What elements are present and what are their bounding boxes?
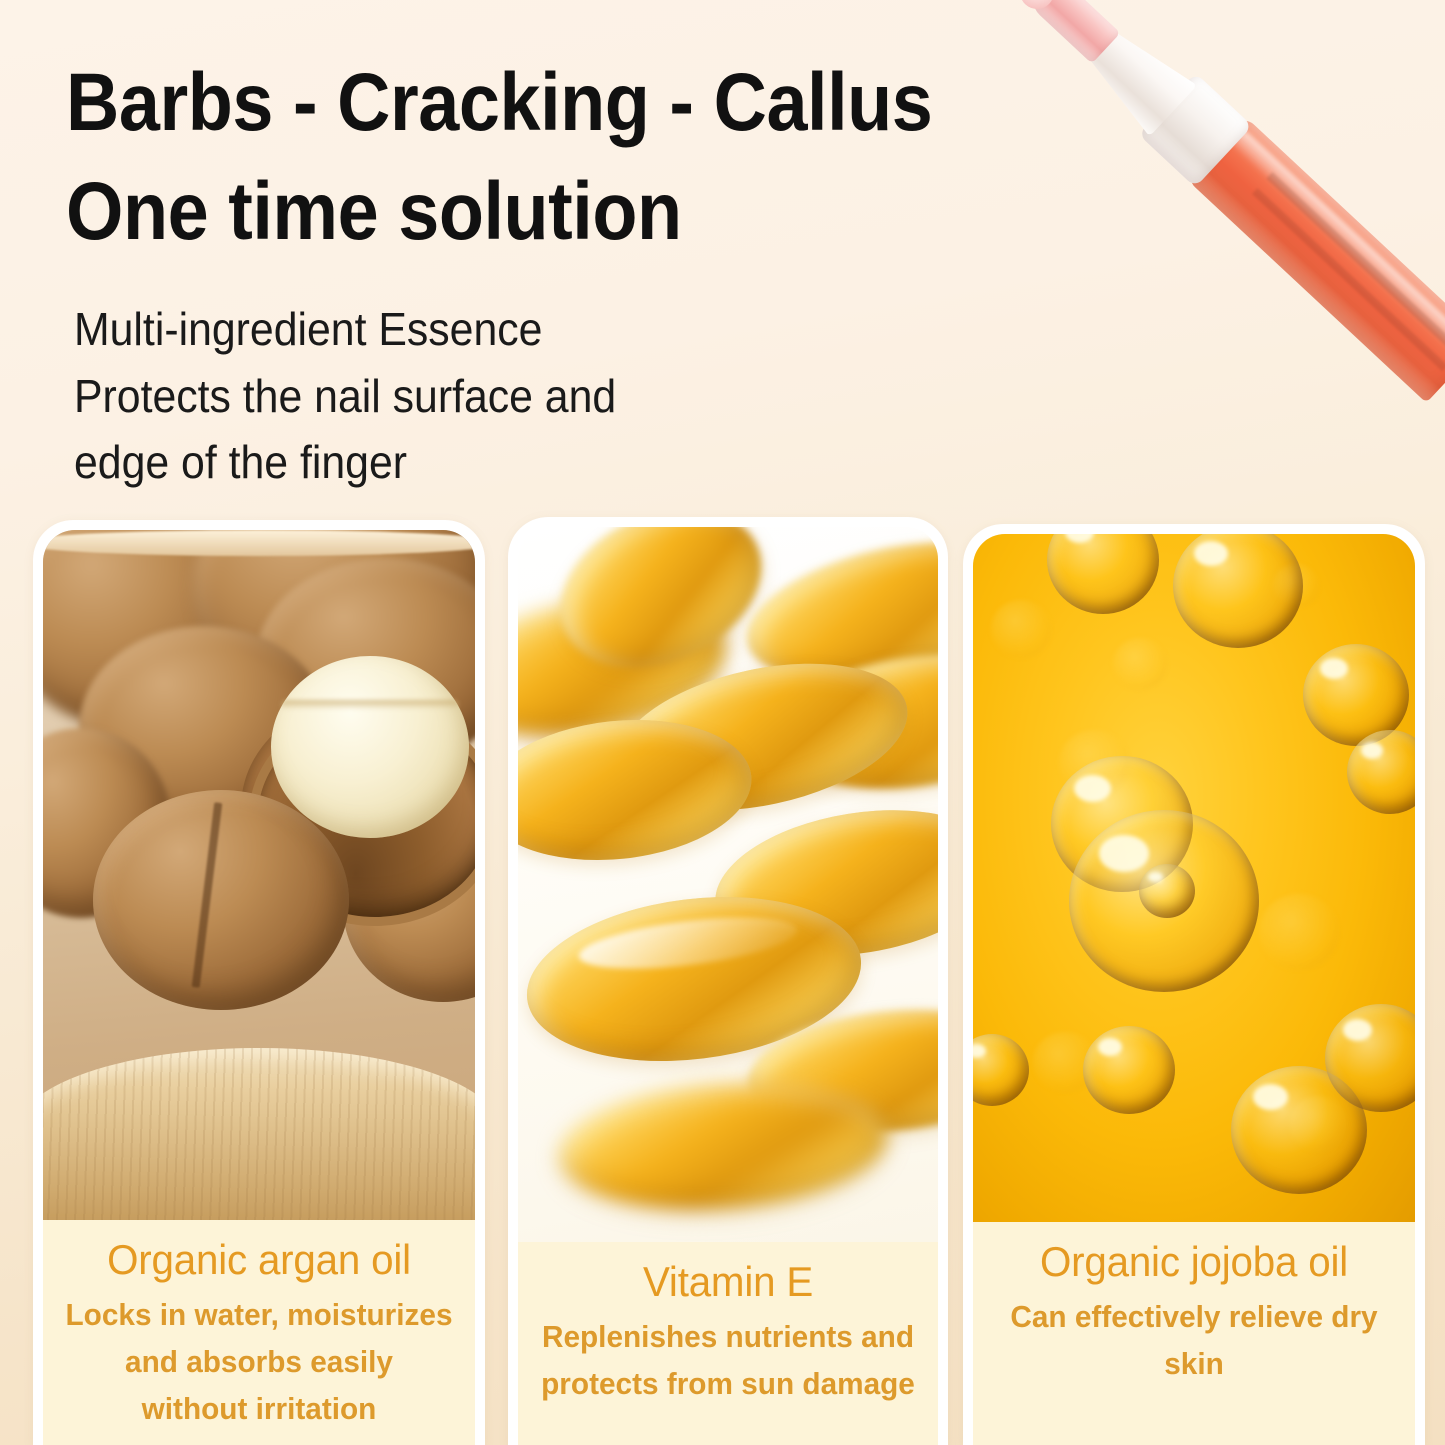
oil-bubble [973,1034,1029,1106]
product-infographic: Barbs - Cracking - Callus One time solut… [0,0,1445,1445]
oil-bubble [991,600,1051,658]
card-title: Organic argan oil [52,1234,467,1285]
bowl-rim [43,530,475,556]
jojoba-oil-photo [973,534,1415,1222]
oil-bubble [1047,534,1159,614]
ingredient-card-jojoba[interactable]: Organic jojoba oil Can effectively relie… [963,524,1425,1445]
card-description: Can effectively relieve dry skin [982,1287,1406,1387]
wooden-bowl [43,1048,475,1220]
capsule-scene [518,527,938,1242]
nut-kernel [271,656,469,838]
card-description: Locks in water, moisturizes and absorbs … [52,1285,467,1432]
ingredient-card-vitamin-e[interactable]: Vitamin E Replenishes nutrients and prot… [508,517,948,1445]
nut-scene [43,530,475,1220]
kernel-groove [281,700,459,710]
vitamin-e-capsules-photo [518,527,938,1242]
card-caption-jojoba: Organic jojoba oil Can effectively relie… [973,1222,1415,1445]
oil-bubble [1259,894,1339,970]
nut-shape-front [93,790,349,1010]
oil-bubble [1083,1026,1175,1114]
card-title: Organic jojoba oil [982,1236,1406,1287]
oil-bubble [1113,638,1167,690]
card-caption-argan: Organic argan oil Locks in water, moistu… [43,1220,475,1445]
oil-scene [973,534,1415,1222]
oil-bubble-inner [1139,864,1195,918]
oil-bubble [1173,534,1303,648]
ingredient-card-row: Organic argan oil Locks in water, moistu… [0,0,1445,1445]
card-title: Vitamin E [526,1256,929,1307]
bowl-wood-grain [43,1048,475,1220]
ingredient-card-argan[interactable]: Organic argan oil Locks in water, moistu… [33,520,485,1445]
card-caption-vitamin-e: Vitamin E Replenishes nutrients and prot… [518,1242,938,1445]
macadamia-nuts-photo [43,530,475,1220]
card-description: Replenishes nutrients and protects from … [526,1307,929,1407]
